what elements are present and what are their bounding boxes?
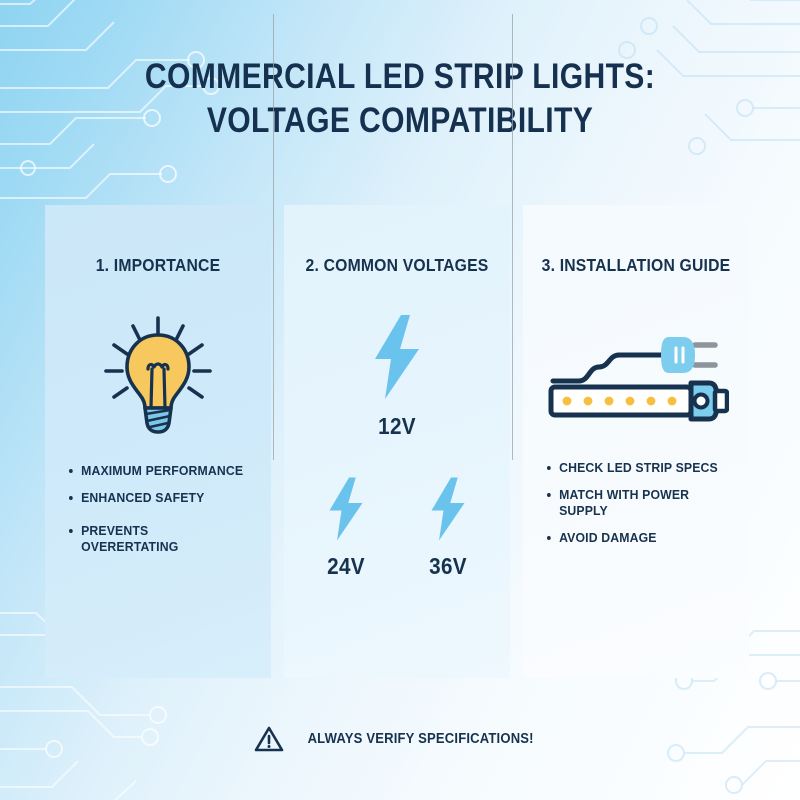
card-importance-bullets: Maximum Performance Enhanced Safety Prev… [69,463,257,566]
warning-triangle-icon [254,725,284,752]
bolt-cell [314,477,378,541]
list-item: Check LED Strip Specs [547,460,722,476]
page-title: Commercial LED Strip Lights: Voltage Com… [56,55,744,143]
bullet-text: Avoid Damage [559,530,657,546]
lightning-bolt-icon [427,477,469,541]
bullet-dot-icon [547,493,551,497]
list-item: Prevents Overertating [69,523,244,555]
bolt-small-row [284,477,510,541]
title-line-2: Voltage Compatibility [56,99,744,143]
voltage-label-12v: 12V [295,413,498,440]
bullet-text: Check LED Strip Specs [559,460,718,476]
footer-text: Always Verify Specifications! [307,731,533,747]
list-item: Match With Power Supply [547,487,722,519]
card-divider-1 [273,14,274,460]
card-installation-guide-bullets: Check LED Strip Specs Match With Power S… [547,460,735,557]
lightbulb-icon-wrap [45,313,271,437]
bolt-cell [416,477,480,541]
bullet-text: Maximum Performance [81,463,243,479]
bullet-dot-icon [69,529,73,533]
bolt-large-wrap [284,315,510,399]
bullet-text: Match With Power Supply [559,487,722,519]
voltage-label-24v: 24V [317,553,375,580]
bullet-text: Enhanced Safety [81,490,204,506]
footer-note: Always Verify Specifications! [0,725,800,752]
voltage-label-row: 24V 36V [284,553,510,580]
lightning-bolt-icon [369,315,425,399]
lightning-bolt-icon [325,477,367,541]
bullet-text: Prevents Overertating [81,523,244,555]
card-common-voltages[interactable]: 2. Common Voltages 12V [284,205,510,678]
led-strip-plug-icon [543,325,729,433]
title-line-1: Commercial LED Strip Lights: [145,57,655,96]
bullet-dot-icon [69,496,73,500]
bullet-dot-icon [547,466,551,470]
card-common-voltages-heading: 2. Common Voltages [295,255,498,276]
bullet-dot-icon [69,469,73,473]
card-importance[interactable]: 1. Importance [45,205,271,678]
list-item: Maximum Performance [69,463,244,479]
infographic-canvas: Commercial LED Strip Lights: Voltage Com… [0,0,800,800]
cards-container: 1. Importance [45,205,750,678]
list-item: Enhanced Safety [69,490,244,506]
list-item: Avoid Damage [547,530,722,546]
bullet-dot-icon [547,536,551,540]
card-importance-heading: 1. Importance [56,255,259,276]
card-installation-guide[interactable]: 3. Installation Guide [523,205,749,678]
card-installation-guide-heading: 3. Installation Guide [534,255,737,276]
card-divider-2 [512,14,513,460]
voltage-label-36v: 36V [419,553,477,580]
led-strip-plug-icon-wrap [523,325,749,433]
lightbulb-icon [102,313,214,437]
